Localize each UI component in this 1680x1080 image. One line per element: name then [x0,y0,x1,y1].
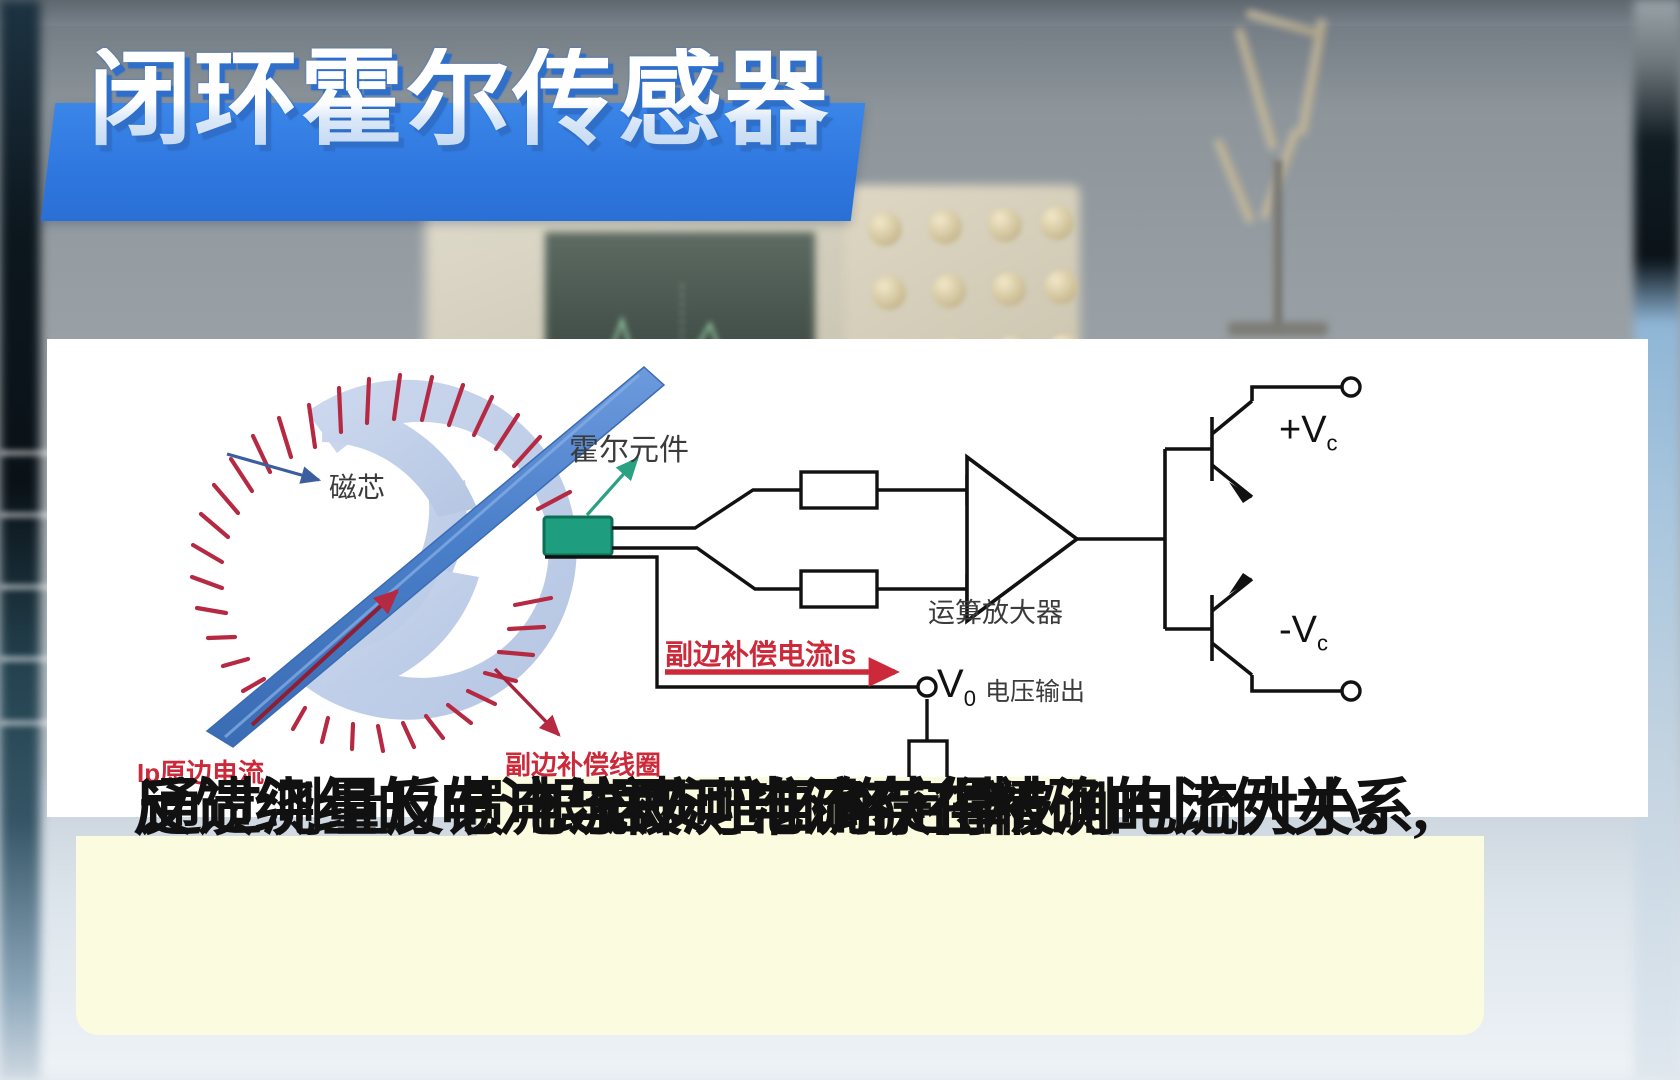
desk-lamp-icon [1190,18,1350,308]
resistor-lower [801,571,877,607]
knob-icon [932,274,966,308]
label-core: 磁芯 [329,466,385,506]
label-hall-element: 霍尔元件 [569,425,689,469]
signal-wires [612,475,967,604]
terminal-voltage-output [918,678,936,696]
label-op-amp: 运算放大器 [928,591,1063,630]
knob-icon [992,272,1026,306]
secondary-coil-pointer-arrow [495,669,559,735]
symbol-vcc-positive: +Vc [1279,409,1338,457]
v0-letter: V [937,662,964,706]
vcc-pos-subscript: c [1327,431,1338,456]
knob-icon [928,210,962,244]
v0-subscript: 0 [964,686,976,711]
vcc-neg-letter: -V [1279,609,1317,651]
symbol-voltage-output: V0 [937,662,976,712]
caption-line-3: 通过测量反馈电流即可准确获得被测电流大小。 [76,777,1484,842]
label-voltage-output: 电压输出 [985,672,1085,708]
knob-icon [988,208,1022,242]
transistor-emitter-arrows [1229,482,1252,594]
resistor-upper [801,472,877,508]
terminal-vcc-negative [1342,682,1360,700]
lamp-base [1228,322,1328,336]
hall-sensor-schematic [47,339,1648,817]
background-top-band [0,0,1680,26]
hall-element-chip [544,517,612,555]
knob-icon [1044,270,1078,304]
symbol-vcc-negative: -Vc [1279,609,1328,657]
diagram-panel: 磁芯 霍尔元件 运算放大器 电压输出 电阻 Ip原边电流 副边补偿线圈 副边补偿… [47,339,1648,817]
knob-icon [1040,206,1074,240]
caption-box: 根据安培环路定律: 反馈绕组的电流与被测电流存在精确的比例关系, 通过测量反馈电… [76,777,1484,1035]
label-secondary-current: 副边补偿电流Is [665,633,856,673]
vcc-pos-letter: +V [1279,409,1327,451]
knob-icon [872,276,906,310]
lamp-pole [1272,160,1282,330]
page-title: 闭环霍尔传感器 [88,48,830,152]
knob-icon [868,212,902,246]
terminal-vcc-positive [1342,378,1360,396]
vcc-neg-subscript: c [1317,631,1328,656]
